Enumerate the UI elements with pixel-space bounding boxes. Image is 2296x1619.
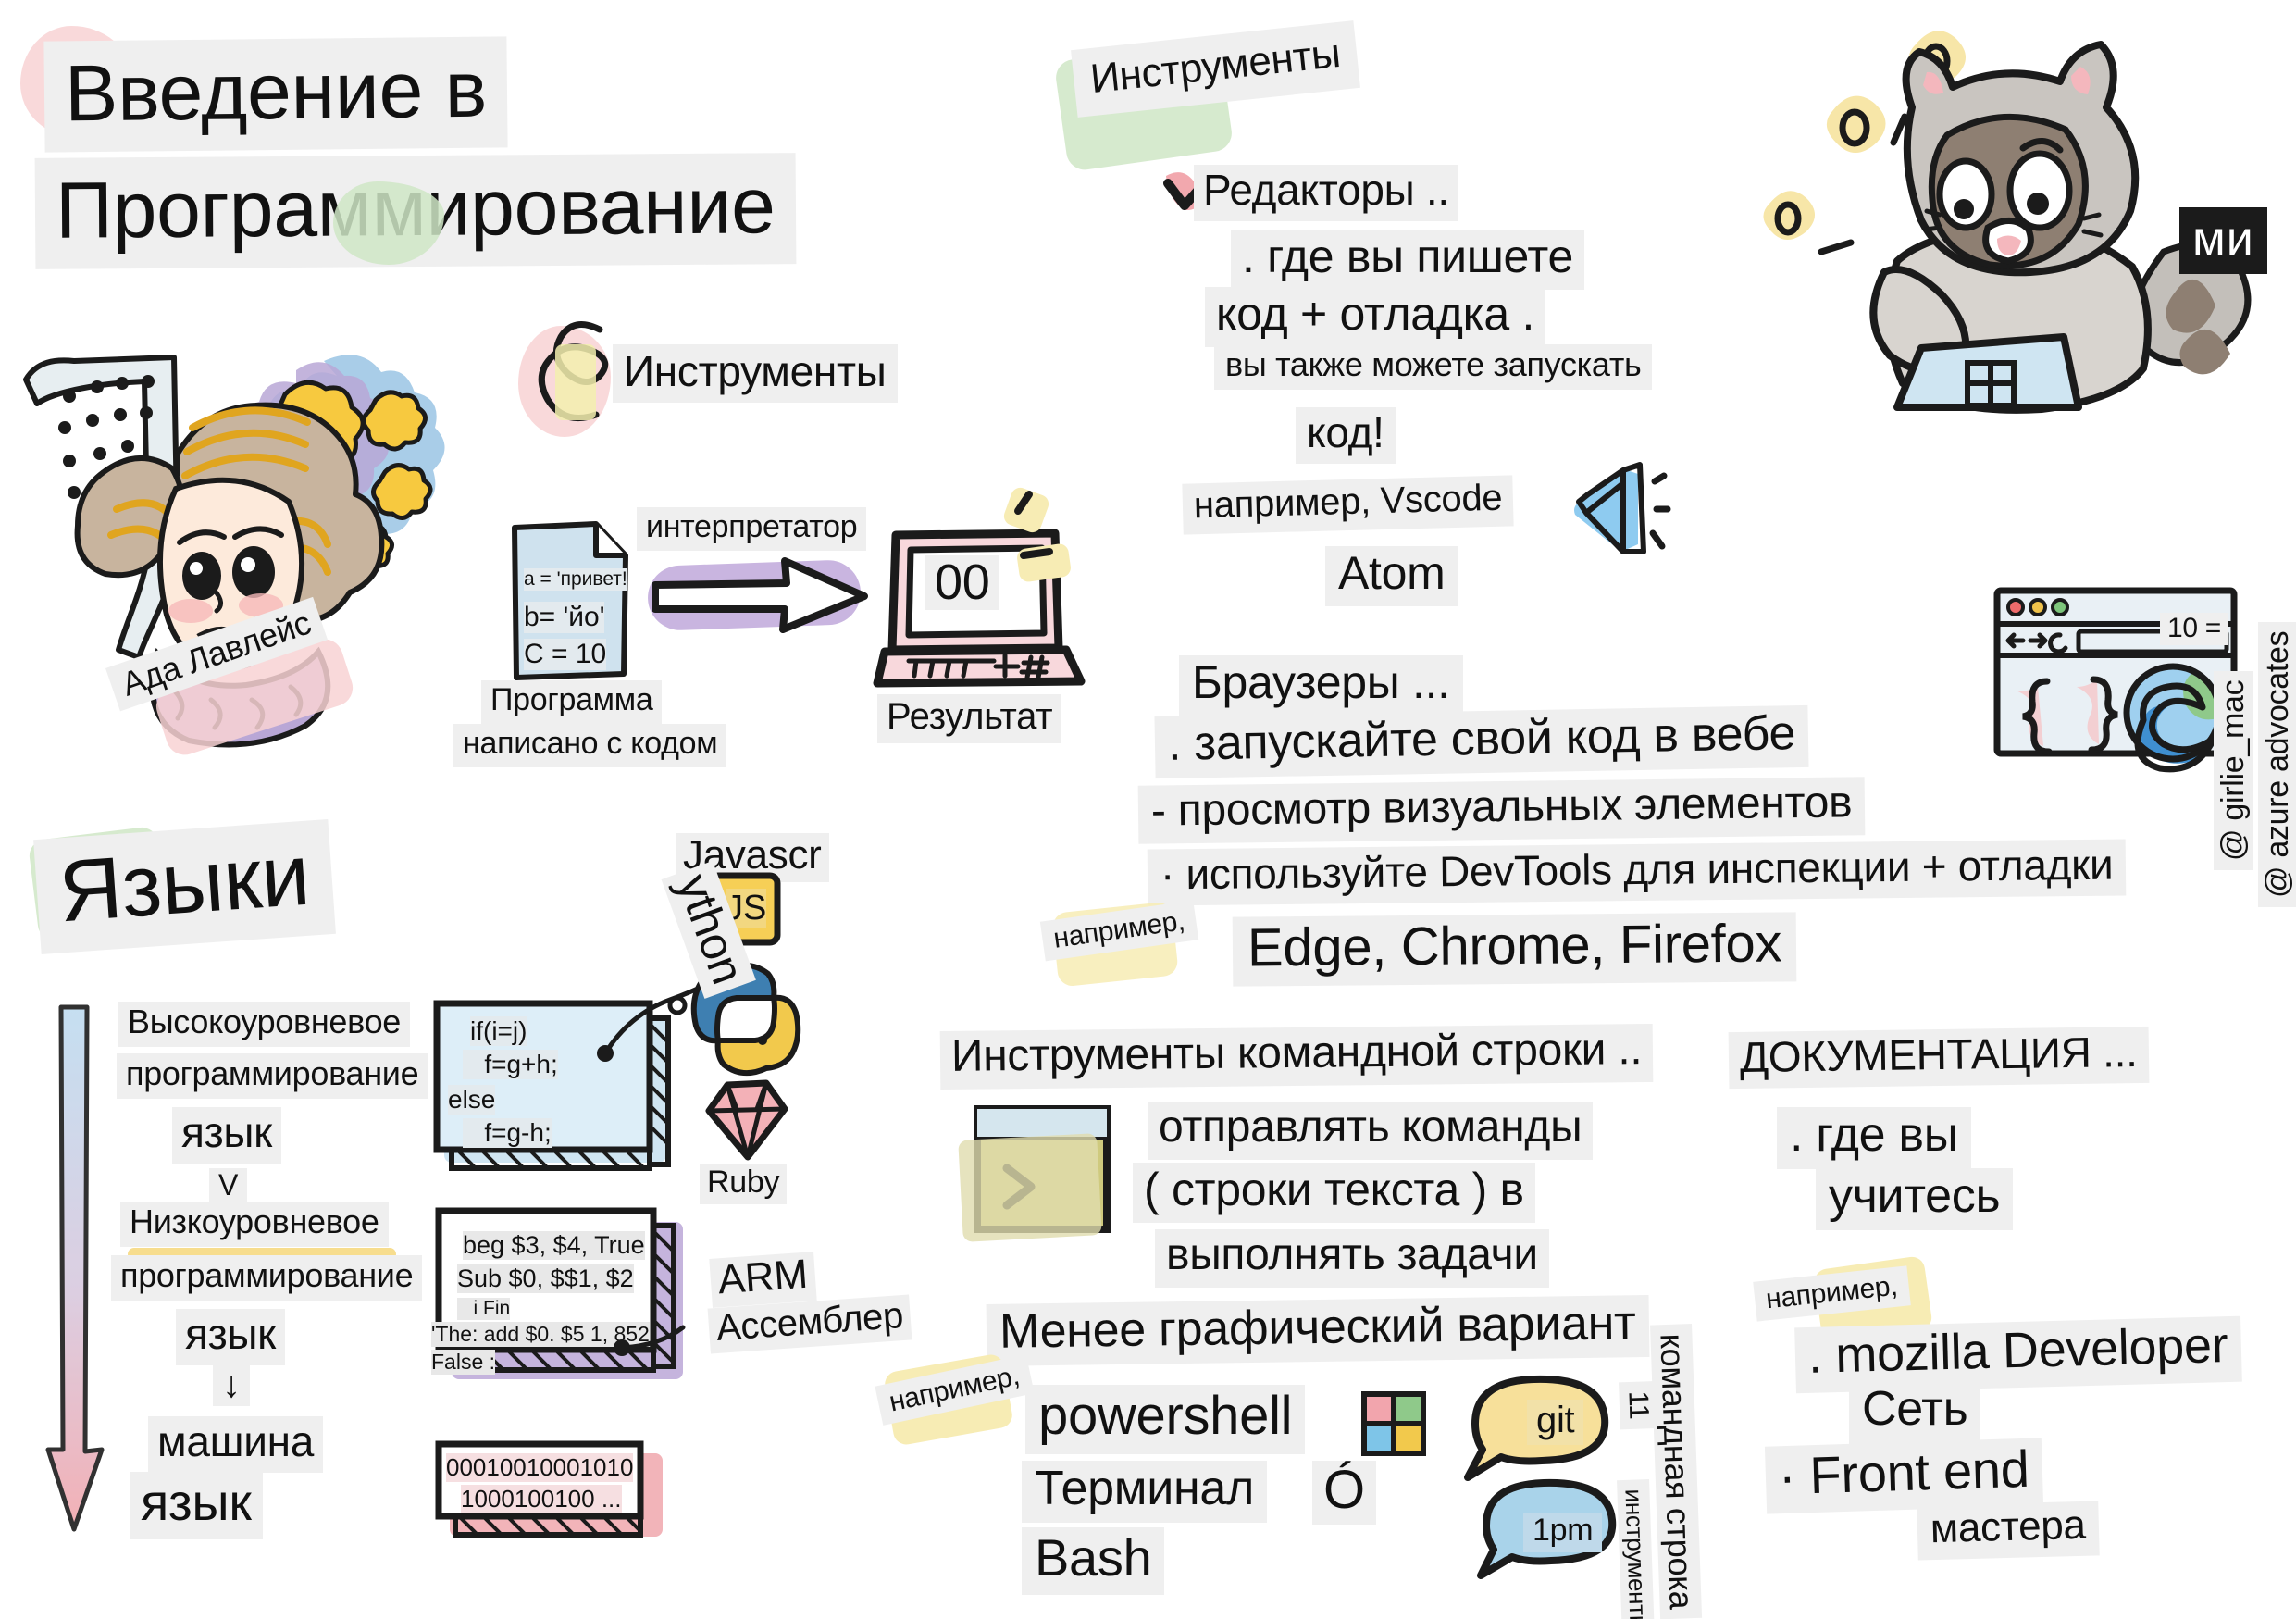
- program-label-line2: написано с кодом: [453, 724, 726, 767]
- high-level-line-3: язык: [172, 1107, 281, 1164]
- level-connector-glyph: V: [209, 1168, 247, 1202]
- editors-line-1: . где вы пишете: [1231, 230, 1584, 290]
- tools-heading-top: Инструменты: [1071, 20, 1360, 118]
- result-label: Результат: [877, 694, 1061, 743]
- high-code-line-1: if(i=j): [470, 1016, 527, 1046]
- editors-line-2: код + отладка .: [1205, 287, 1545, 347]
- asm-code-line-2: Sub $0, $$1, $2: [457, 1264, 634, 1293]
- bubble-label: 1pm: [1523, 1513, 1602, 1552]
- browsers-line-2: - просмотр визуальных элементов: [1138, 777, 1866, 844]
- editors-example-vscode: например, Vscode: [1182, 475, 1514, 534]
- cli-vertical-number: 11: [1619, 1381, 1656, 1429]
- sketchnote-canvas: Введение в Программирование: [0, 0, 2296, 1619]
- docs-line-1: . где вы: [1777, 1107, 1971, 1169]
- asm-code-line-3: i Fin: [457, 1298, 510, 1320]
- high-code-line-3: else: [448, 1085, 495, 1115]
- docs-heading: ДОКУМЕНТАЦИЯ ...: [1729, 1027, 2149, 1089]
- terminal-olive-blob: [958, 1133, 1102, 1242]
- machine-line-2: язык: [130, 1472, 263, 1539]
- low-level-line-2: программирование: [111, 1255, 422, 1301]
- cli-line-2: ( строки текста ) в: [1133, 1163, 1535, 1223]
- program-code-line-3: C = 10: [524, 639, 606, 670]
- editors-line-3: вы также можете запускать: [1214, 344, 1652, 390]
- credits-line-1: @ azure advocates: [2258, 622, 2296, 907]
- result-screen-value: 00: [925, 555, 999, 610]
- languages-heading: Языки: [33, 819, 336, 954]
- page-title-line1: Введение в: [43, 36, 507, 152]
- browser-mock-url: 10 =: [2160, 613, 2228, 645]
- cli-example-terminal: Терминал: [1022, 1461, 1267, 1523]
- credits-line-2: @ girlie_mac: [2214, 671, 2253, 870]
- browsers-heading: Браузеры ...: [1179, 655, 1463, 716]
- cli-vertical-small: инструменты: [1618, 1479, 1656, 1619]
- low-level-line-1: Низкоуровневое: [120, 1202, 389, 1247]
- docs-example-masters: мастера: [1917, 1501, 2099, 1560]
- cli-example-powershell: powershell: [1025, 1385, 1305, 1454]
- machine-code-line-2: 1000100100 ...: [461, 1485, 622, 1513]
- machine-line-1: машина: [148, 1416, 323, 1473]
- asm-code-line-1: beg $3, $4, True: [463, 1231, 645, 1260]
- tools-heading-left: Инструменты: [613, 344, 898, 403]
- tools-left-yellow-blob: [555, 344, 596, 420]
- interpreter-arrow-icon: [648, 552, 879, 644]
- high-level-line-1: Высокоуровневое: [118, 1002, 410, 1047]
- interpreter-arrow-label: интерпретатор: [637, 507, 866, 551]
- low-level-line-3: язык: [176, 1309, 285, 1365]
- browsers-line-3: · используйте DevTools для инспекции + о…: [1148, 839, 2127, 905]
- editors-heading: Редакторы ..: [1194, 165, 1458, 221]
- high-code-line-4: f=g-h;: [463, 1118, 552, 1148]
- level-arrow-glyph: ↓: [213, 1364, 250, 1406]
- program-code-line-2: b= 'йо': [524, 602, 604, 633]
- asm-code-line-5: False :: [431, 1350, 495, 1375]
- high-code-line-2: f=g+h;: [463, 1050, 558, 1079]
- docs-example-set: Сеть: [1849, 1381, 1980, 1445]
- cli-heading: Инструменты командной строки ..: [940, 1024, 1654, 1090]
- result-spark-marks: [1005, 487, 1088, 589]
- docs-line-2: учитесь: [1816, 1168, 2013, 1230]
- raccoon-tag: ми: [2179, 207, 2267, 274]
- high-level-line-2: программирование: [117, 1053, 428, 1099]
- editors-line-4: код!: [1296, 407, 1396, 464]
- cli-line-1: отправлять команды: [1148, 1102, 1593, 1160]
- git-label: git: [1527, 1400, 1583, 1445]
- editors-example-atom: Atom: [1325, 546, 1458, 606]
- browsers-line-1: . запускайте свой код в вебе: [1154, 705, 1808, 778]
- windows-icon: [1359, 1389, 1433, 1463]
- vscode-icon: [1566, 461, 1668, 563]
- ruby-icon: [700, 1076, 792, 1168]
- cli-less-graphical: Менее графический вариант: [987, 1295, 1650, 1366]
- machine-code-line-1: 00010010001010: [446, 1453, 633, 1482]
- cli-line-3: выполнять задачи: [1155, 1229, 1549, 1288]
- cli-example-bash: Bash: [1022, 1527, 1164, 1595]
- program-label-line1: Программа: [481, 680, 662, 724]
- ruby-label: Ruby: [700, 1164, 787, 1204]
- browsers-examples: Edge, Chrome, Firefox: [1233, 912, 1797, 986]
- apple-glyph: Ó: [1312, 1461, 1376, 1525]
- arm-label-line1: ARM: [709, 1252, 816, 1308]
- program-code-line-1: a = 'привет!: [524, 568, 627, 591]
